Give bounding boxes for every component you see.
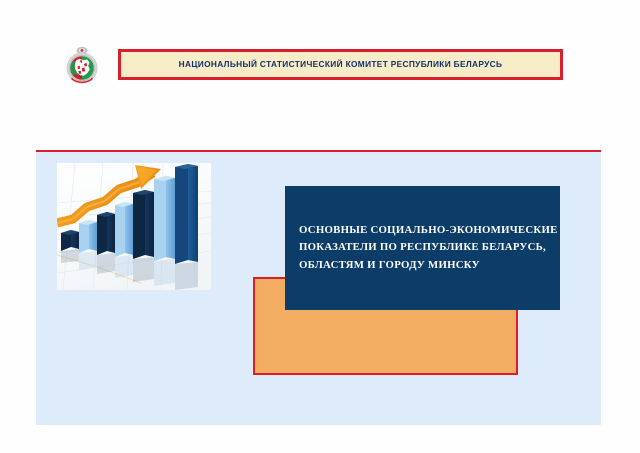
page-title-line-3: ОБЛАСТЯМ И ГОРОДУ МИНСКУ bbox=[299, 257, 546, 274]
header-banner-label: НАЦИОНАЛЬНЫЙ СТАТИСТИЧЕСКИЙ КОМИТЕТ РЕСП… bbox=[179, 60, 503, 68]
header-banner: НАЦИОНАЛЬНЫЙ СТАТИСТИЧЕСКИЙ КОМИТЕТ РЕСП… bbox=[118, 49, 563, 80]
document-title-panel: ОСНОВНЫЕ СОЦИАЛЬНО-ЭКОНОМИЧЕСКИЕ ПОКАЗАТ… bbox=[285, 186, 560, 310]
growth-bar-chart-icon bbox=[57, 163, 211, 290]
page-title-line-1: ОСНОВНЫЕ СОЦИАЛЬНО-ЭКОНОМИЧЕСКИЕ bbox=[299, 222, 546, 239]
page-header: НАЦИОНАЛЬНЫЙ СТАТИСТИЧЕСКИЙ КОМИТЕТ РЕСП… bbox=[0, 0, 640, 130]
title-page: НАЦИОНАЛЬНЫЙ СТАТИСТИЧЕСКИЙ КОМИТЕТ РЕСП… bbox=[0, 0, 640, 453]
belarus-coat-of-arms-icon bbox=[63, 46, 101, 86]
page-title-line-2: ПОКАЗАТЕЛИ ПО РЕСПУБЛИКЕ БЕЛАРУСЬ, bbox=[299, 239, 546, 256]
